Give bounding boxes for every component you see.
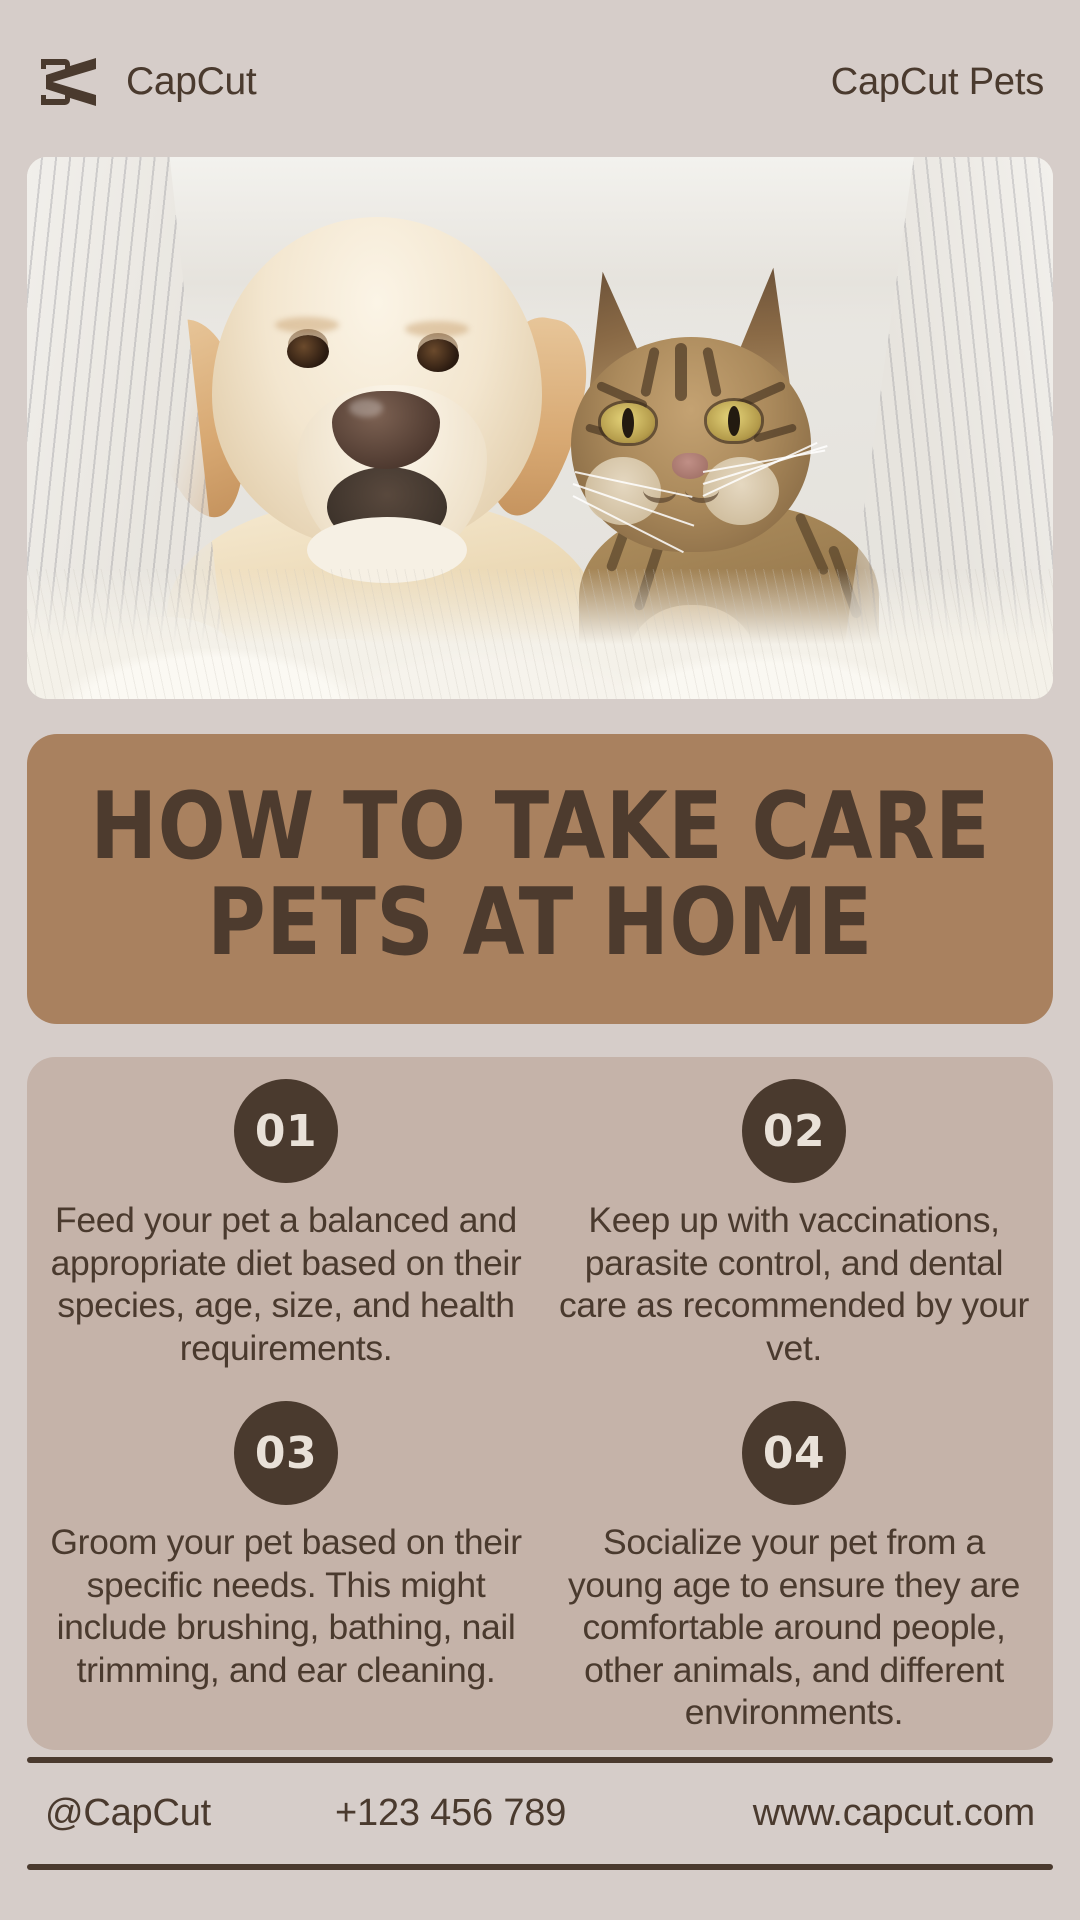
dog-eye-right	[417, 339, 459, 372]
footer-phone[interactable]: +123 456 789	[335, 1792, 566, 1835]
cat-forehead-stripe	[702, 347, 722, 398]
footer-social-handle[interactable]: @CapCut	[45, 1792, 211, 1835]
tip-number-badge: 01	[234, 1079, 338, 1183]
tip-number-badge: 03	[234, 1401, 338, 1505]
cat-pupil-right	[728, 406, 740, 436]
dog-brow-left	[275, 317, 339, 333]
dog-eye-left	[287, 335, 329, 368]
infographic-page: CapCut CapCut Pets	[0, 0, 1080, 1920]
tip-item-02: 02 Keep up with vaccinations, parasite c…	[553, 1079, 1035, 1391]
page-title-line-2: PETS AT HOME	[207, 875, 873, 971]
cat-forehead-stripe	[675, 343, 687, 401]
brand: CapCut	[34, 53, 256, 111]
capcut-logo-icon	[34, 53, 108, 111]
footer-website[interactable]: www.capcut.com	[753, 1792, 1035, 1835]
dog-brow-right	[405, 321, 469, 337]
cat-pupil-left	[622, 408, 634, 438]
cat-body-stripe	[794, 512, 830, 576]
brand-name: CapCut	[126, 60, 256, 104]
title-banner: HOW TO TAKE CARE PETS AT HOME	[27, 734, 1053, 1024]
tip-text: Groom your pet based on their specific n…	[45, 1521, 527, 1691]
dog-nose-highlight	[349, 399, 383, 417]
tip-item-04: 04 Socialize your pet from a young age t…	[553, 1401, 1035, 1734]
footer-divider-top	[27, 1757, 1053, 1763]
tips-card: 01 Feed your pet a balanced and appropri…	[27, 1057, 1053, 1750]
tip-number-badge: 02	[742, 1079, 846, 1183]
header: CapCut CapCut Pets	[0, 42, 1080, 122]
footer: @CapCut +123 456 789 www.capcut.com	[27, 1768, 1053, 1858]
page-title-line-1: HOW TO TAKE CARE	[90, 779, 990, 875]
tip-item-01: 01 Feed your pet a balanced and appropri…	[45, 1079, 527, 1391]
pets-photo	[27, 157, 1053, 699]
hero-photo	[27, 157, 1053, 699]
tip-item-03: 03 Groom your pet based on their specifi…	[45, 1401, 527, 1734]
tip-text: Feed your pet a balanced and appropriate…	[45, 1199, 527, 1369]
header-right-label: CapCut Pets	[831, 61, 1044, 104]
cat-forehead-stripe	[640, 347, 660, 398]
tip-number-badge: 04	[742, 1401, 846, 1505]
tip-text: Socialize your pet from a young age to e…	[553, 1521, 1035, 1734]
cat-nose	[672, 453, 708, 479]
fur-throw-foreground	[27, 569, 1053, 699]
footer-divider-bottom	[27, 1864, 1053, 1870]
tip-text: Keep up with vaccinations, parasite cont…	[553, 1199, 1035, 1369]
